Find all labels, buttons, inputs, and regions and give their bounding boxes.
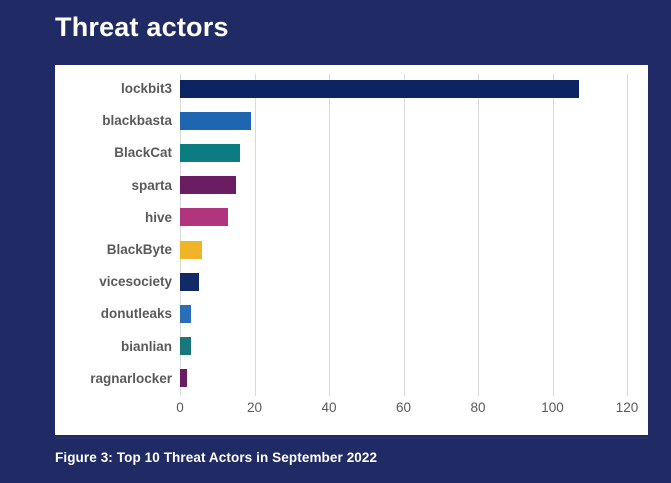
category-label-lockbit3: lockbit3 [55, 81, 172, 96]
bar-sparta [180, 176, 236, 194]
bar-vicesociety [180, 273, 199, 291]
bar-ragnarlocker [180, 369, 187, 387]
slide-background: Threat actors lockbit3blackbastaBlackCat… [0, 0, 671, 483]
category-label-donutleaks: donutleaks [55, 306, 172, 321]
chart-bar-rows: lockbit3blackbastaBlackCatspartahiveBlac… [55, 74, 648, 396]
chart-panel: lockbit3blackbastaBlackCatspartahiveBlac… [55, 65, 648, 435]
chart-row: ragnarlocker [55, 364, 648, 393]
bar-BlackByte [180, 241, 202, 259]
x-tick-label-40: 40 [321, 400, 336, 415]
x-tick-label-80: 80 [470, 400, 485, 415]
chart-row: BlackCat [55, 138, 648, 167]
x-tick-label-0: 0 [176, 400, 184, 415]
chart-row: sparta [55, 171, 648, 200]
chart-row: BlackByte [55, 235, 648, 264]
bar-bianlian [180, 337, 191, 355]
category-label-hive: hive [55, 210, 172, 225]
category-label-bianlian: bianlian [55, 339, 172, 354]
chart-row: hive [55, 203, 648, 232]
x-tick-label-60: 60 [396, 400, 411, 415]
bar-hive [180, 208, 228, 226]
x-tick-label-120: 120 [616, 400, 639, 415]
figure-caption: Figure 3: Top 10 Threat Actors in Septem… [55, 450, 377, 465]
bar-blackbasta [180, 112, 251, 130]
chart-row: lockbit3 [55, 74, 648, 103]
chart-row: blackbasta [55, 106, 648, 135]
chart-row: donutleaks [55, 299, 648, 328]
bar-BlackCat [180, 144, 240, 162]
chart-row: bianlian [55, 332, 648, 361]
category-label-BlackCat: BlackCat [55, 145, 172, 160]
category-label-BlackByte: BlackByte [55, 242, 172, 257]
bar-lockbit3 [180, 80, 579, 98]
category-label-blackbasta: blackbasta [55, 113, 172, 128]
bar-chart: lockbit3blackbastaBlackCatspartahiveBlac… [55, 65, 648, 435]
chart-row: vicesociety [55, 267, 648, 296]
page-title: Threat actors [55, 12, 229, 43]
x-tick-label-100: 100 [541, 400, 564, 415]
category-label-sparta: sparta [55, 178, 172, 193]
bar-donutleaks [180, 305, 191, 323]
x-tick-label-20: 20 [247, 400, 262, 415]
category-label-vicesociety: vicesociety [55, 274, 172, 289]
category-label-ragnarlocker: ragnarlocker [55, 371, 172, 386]
x-axis-ticks: 020406080100120 [55, 396, 648, 422]
panel-divider [55, 437, 648, 439]
